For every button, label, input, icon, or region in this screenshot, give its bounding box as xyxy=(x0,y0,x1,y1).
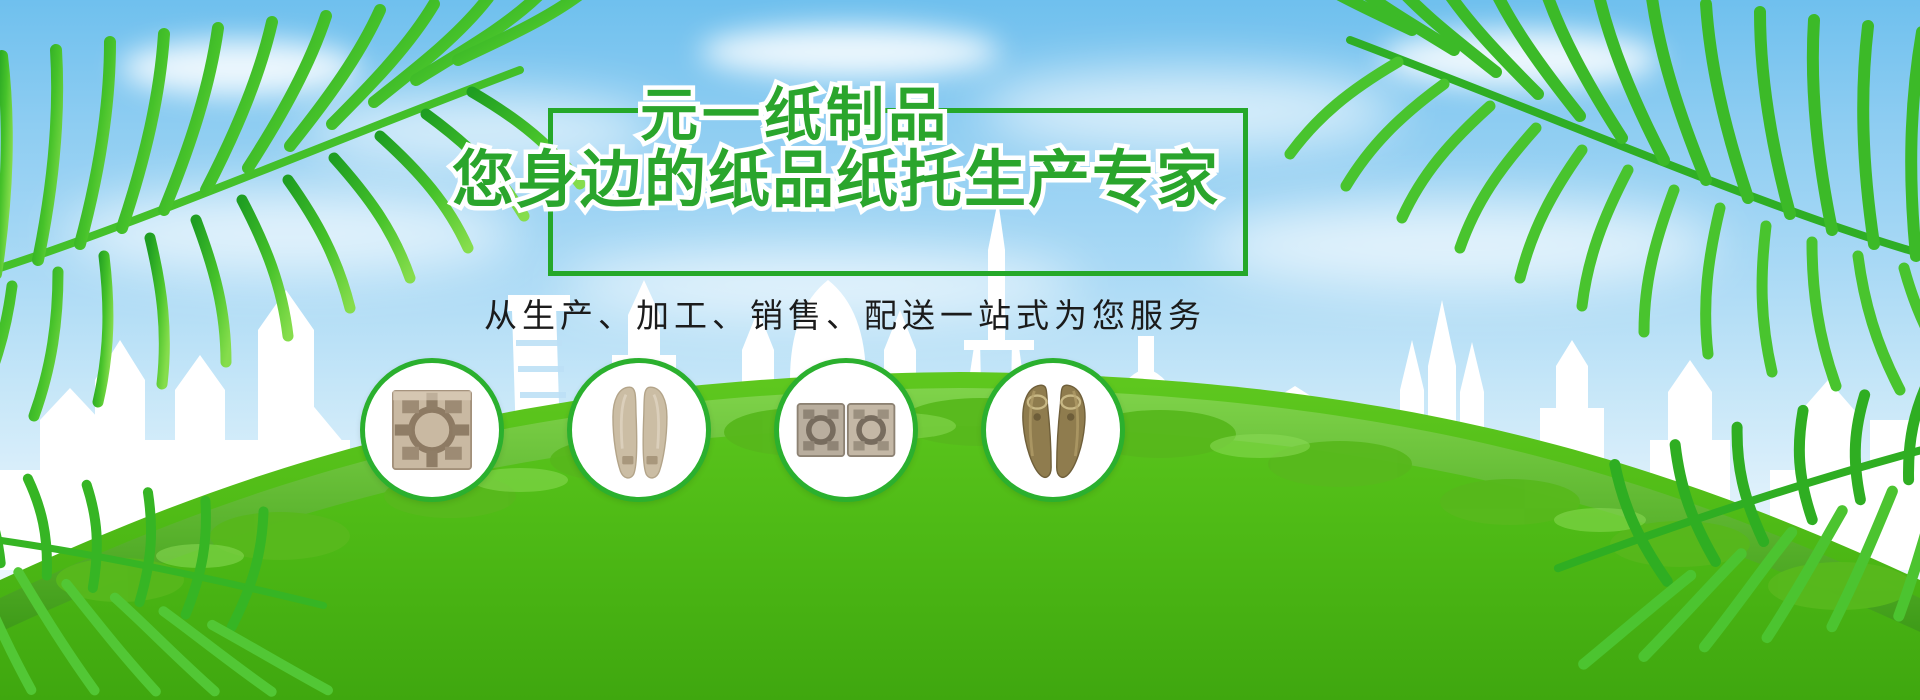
page-title: 元一纸制品 xyxy=(640,84,950,146)
square-pulp-tray-icon xyxy=(365,363,499,497)
double-pulp-tray-icon xyxy=(779,363,913,497)
product-thumb-square-pulp-tray[interactable] xyxy=(360,358,504,502)
cloud-icon xyxy=(700,26,1000,78)
product-thumb-shoe-insole-pair[interactable] xyxy=(567,358,711,502)
shoe-last-pair-icon xyxy=(986,363,1120,497)
page-tagline: 从生产、加工、销售、配送一站式为您服务 xyxy=(484,289,1206,337)
hero-banner: 元一纸制品 您身边的纸品纸托生产专家 从生产、加工、销售、配送一站式为您服务 xyxy=(0,0,1920,700)
cloud-icon xyxy=(120,40,360,96)
green-grass-hill xyxy=(0,280,1920,700)
product-thumb-shoe-last-pair[interactable] xyxy=(981,358,1125,502)
cloud-icon xyxy=(1380,30,1660,88)
product-thumb-double-pulp-tray[interactable] xyxy=(774,358,918,502)
shoe-insole-pair-icon xyxy=(572,363,706,497)
page-subtitle-large: 您身边的纸品纸托生产专家 xyxy=(452,146,1220,214)
